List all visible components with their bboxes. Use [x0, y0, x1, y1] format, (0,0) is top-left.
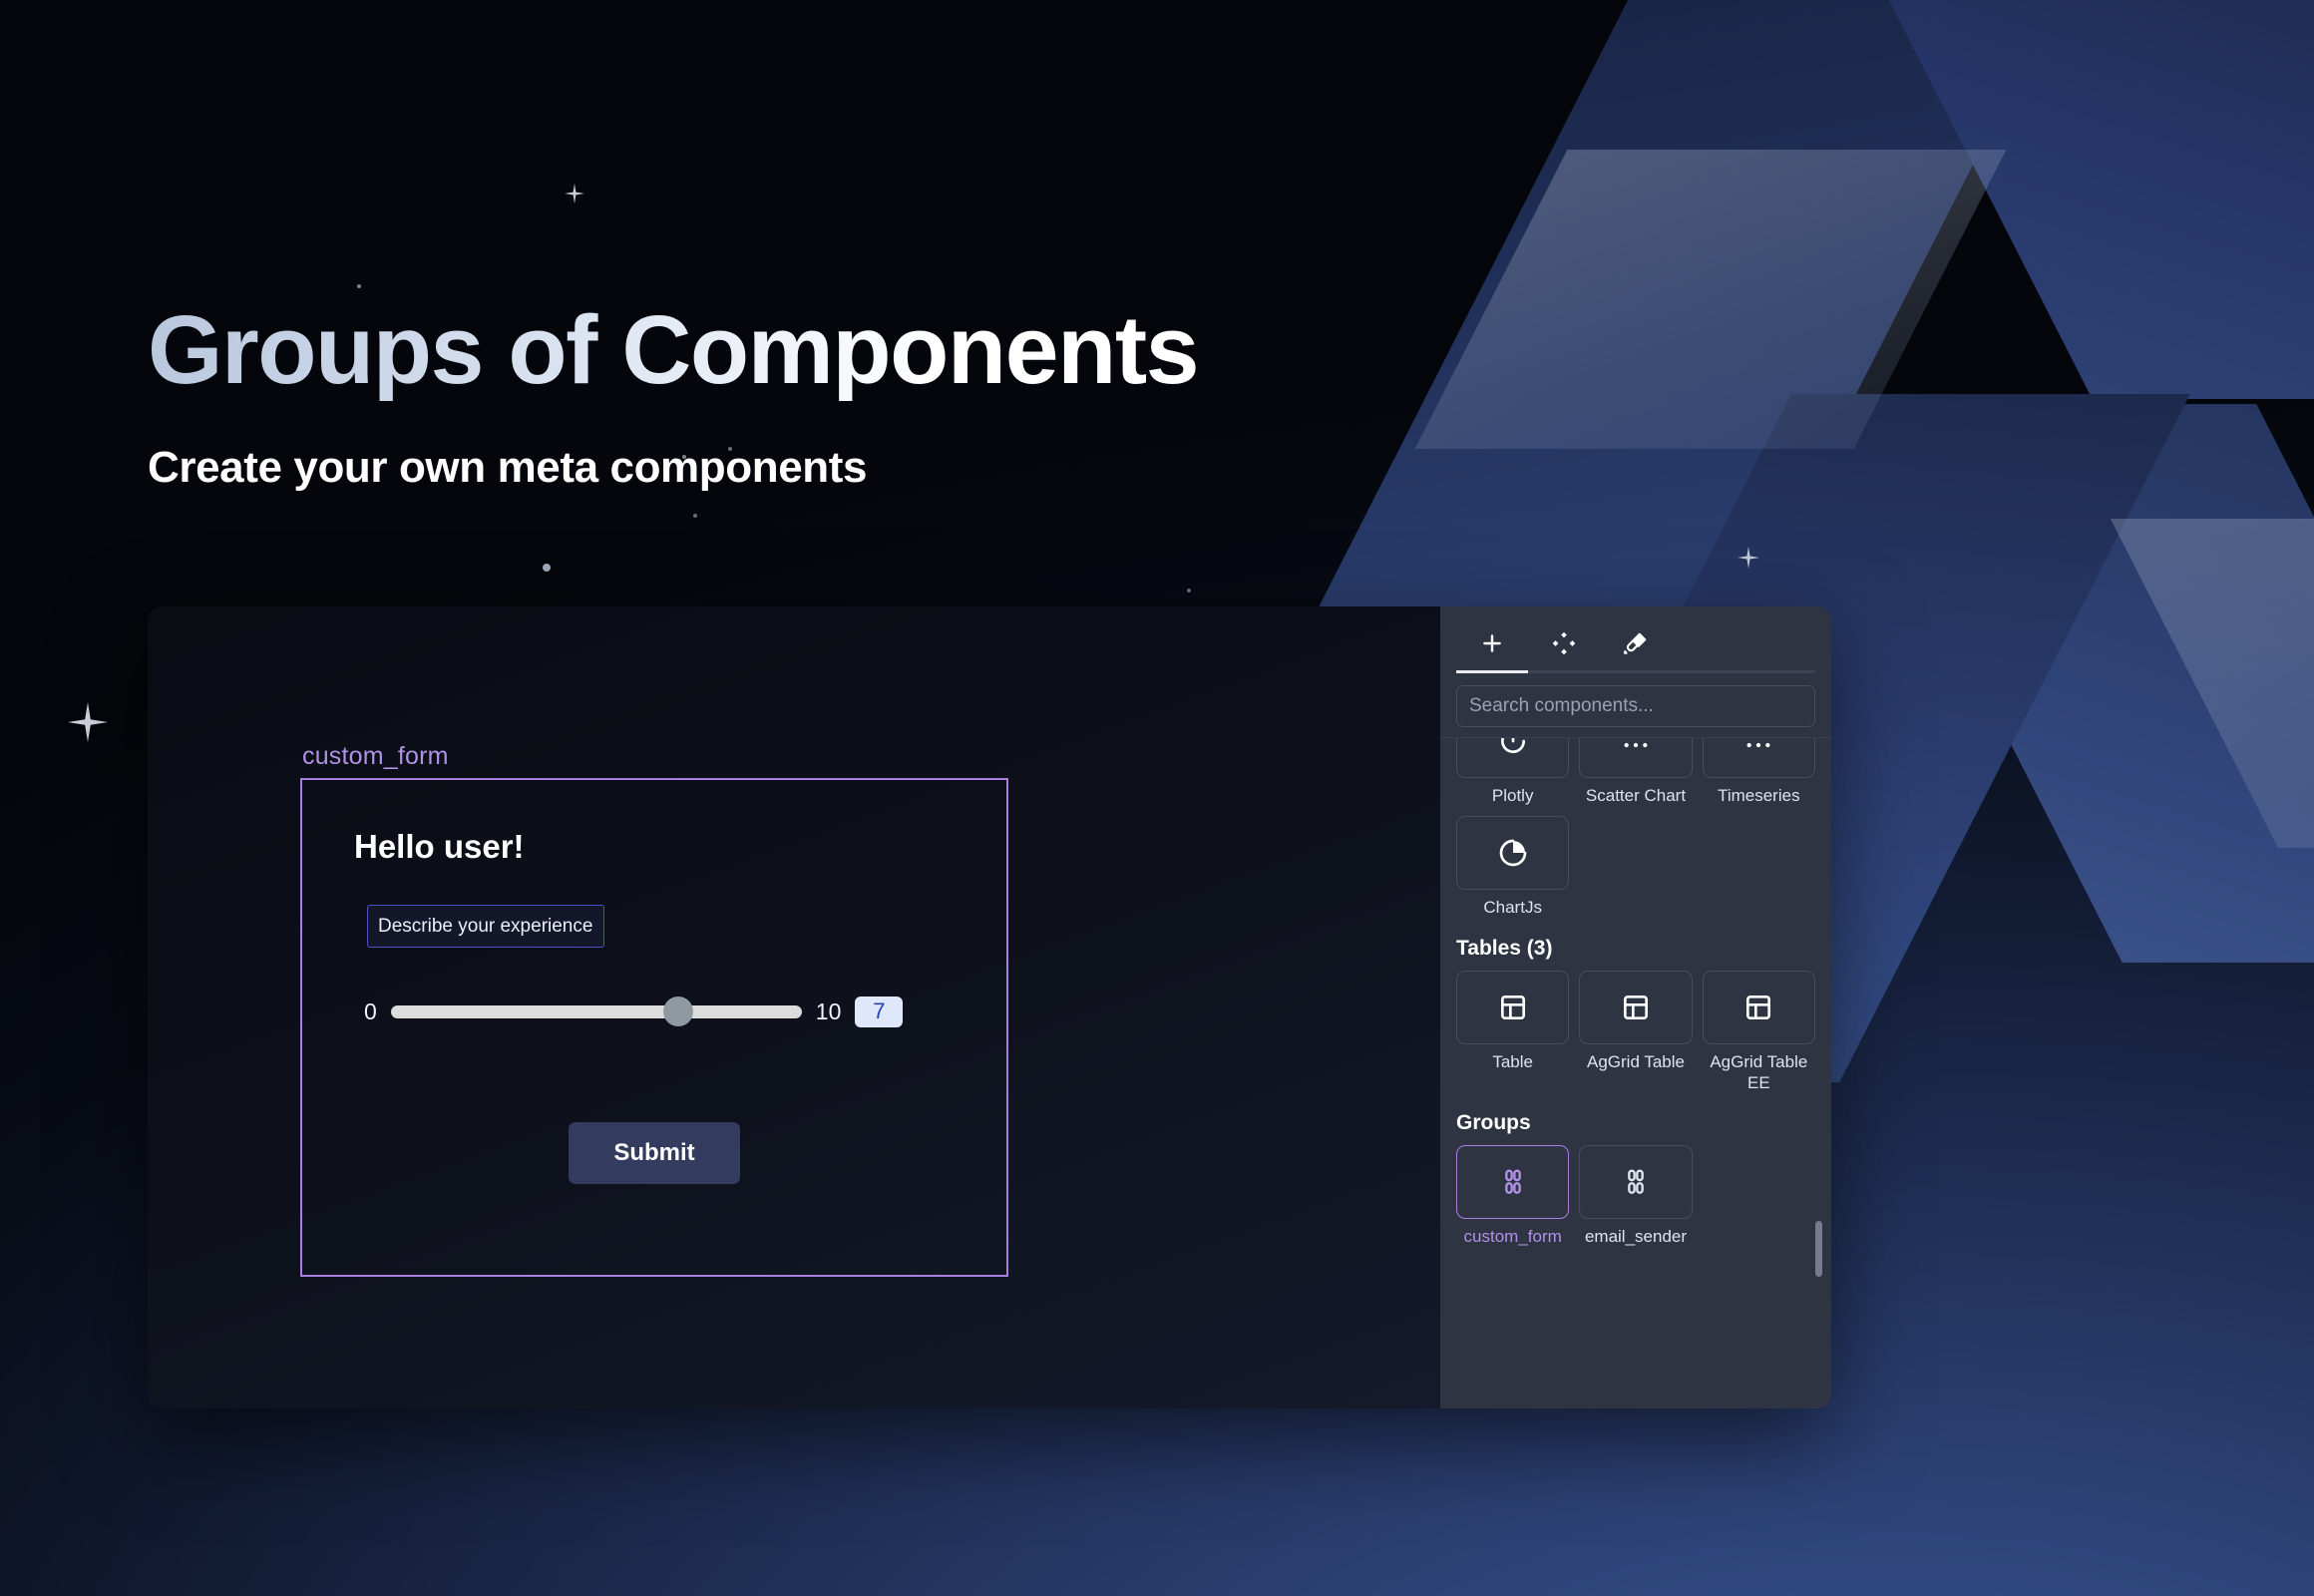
greeting-heading: Hello user!: [354, 828, 525, 866]
page-title: Groups of Components: [148, 299, 1198, 401]
star-dot: [543, 564, 551, 572]
donut-chart-icon: [1497, 737, 1529, 757]
component-item-timeseries[interactable]: Timeseries: [1703, 737, 1815, 806]
component-label: Scatter Chart: [1586, 785, 1686, 806]
tables-section-title: Tables (3): [1456, 937, 1815, 961]
component-label: Table: [1492, 1051, 1533, 1072]
page-subtitle: Create your own meta components: [148, 443, 1198, 493]
scatter-dots-icon: [1742, 737, 1774, 757]
star-dot: [357, 284, 361, 288]
diamonds-icon: [1551, 630, 1577, 656]
tables-grid: Table AgGrid Table: [1456, 971, 1815, 1094]
slider-track[interactable]: [391, 1005, 802, 1018]
group-icon: [1620, 1166, 1652, 1198]
table-icon: [1742, 992, 1774, 1023]
component-icon-box: [1456, 1145, 1569, 1219]
paintbrush-icon: [1623, 630, 1649, 656]
components-tree-tab[interactable]: [1528, 620, 1600, 666]
styling-tab[interactable]: [1600, 620, 1672, 666]
star-dot: [693, 514, 697, 518]
component-icon-box: [1579, 1145, 1692, 1219]
component-icon-box: [1579, 971, 1692, 1044]
custom-form-group[interactable]: Hello user! 0 10 7 Submit: [300, 778, 1008, 1277]
rating-slider-row[interactable]: 0 10 7: [364, 992, 982, 1031]
pie-chart-icon: [1497, 837, 1529, 869]
group-icon: [1497, 1166, 1529, 1198]
component-icon-box: [1703, 737, 1815, 778]
table-icon: [1620, 992, 1652, 1023]
component-icon-box: [1456, 737, 1569, 778]
panel-tab-bar: [1440, 606, 1831, 666]
active-tab-indicator: [1456, 670, 1815, 673]
component-item-chartjs[interactable]: ChartJs: [1456, 816, 1569, 918]
table-icon: [1497, 992, 1529, 1023]
component-item-custom-form[interactable]: custom_form: [1456, 1145, 1569, 1247]
component-label: AgGrid Table EE: [1703, 1051, 1815, 1094]
panel-scrollbar-thumb[interactable]: [1815, 1221, 1822, 1277]
star-dot: [1187, 589, 1191, 593]
scatter-dots-icon: [1620, 737, 1652, 757]
charts-grid-row2: ChartJs: [1456, 816, 1815, 918]
component-label: Plotly: [1492, 785, 1534, 806]
slider-max-label: 10: [816, 998, 842, 1025]
add-components-tab[interactable]: [1456, 620, 1528, 666]
component-icon-box: [1579, 737, 1692, 778]
search-container: [1440, 673, 1831, 737]
slider-min-label: 0: [364, 998, 377, 1025]
experience-input[interactable]: [367, 905, 604, 948]
plus-icon: [1479, 630, 1505, 656]
groups-section-title: Groups: [1456, 1111, 1815, 1135]
component-item-aggrid-table[interactable]: AgGrid Table: [1579, 971, 1692, 1094]
submit-button[interactable]: Submit: [569, 1122, 740, 1184]
component-label: ChartJs: [1483, 897, 1542, 918]
components-panel: Plotly Scatter Chart: [1440, 606, 1831, 1408]
component-icon-box: [1456, 816, 1569, 890]
group-name-label: custom_form: [302, 742, 449, 771]
component-label: AgGrid Table: [1587, 1051, 1685, 1072]
components-list[interactable]: Plotly Scatter Chart: [1440, 737, 1831, 1408]
search-input[interactable]: [1456, 685, 1815, 727]
component-icon-box: [1703, 971, 1815, 1044]
component-item-table[interactable]: Table: [1456, 971, 1569, 1094]
component-item-email-sender[interactable]: email_sender: [1579, 1145, 1692, 1247]
hero-section: Groups of Components Create your own met…: [148, 299, 1198, 493]
component-label: custom_form: [1464, 1226, 1562, 1247]
charts-grid: Plotly Scatter Chart: [1456, 737, 1815, 806]
groups-grid: custom_form email_sender: [1456, 1145, 1815, 1247]
component-item-scatter-chart[interactable]: Scatter Chart: [1579, 737, 1692, 806]
component-icon-box: [1456, 971, 1569, 1044]
component-item-plotly[interactable]: Plotly: [1456, 737, 1569, 806]
component-item-aggrid-table-ee[interactable]: AgGrid Table EE: [1703, 971, 1815, 1094]
slider-value-badge: 7: [855, 997, 903, 1027]
app-builder-card: custom_form Hello user! 0 10 7 Submit: [148, 606, 1831, 1408]
component-label: Timeseries: [1718, 785, 1800, 806]
app-canvas[interactable]: custom_form Hello user! 0 10 7 Submit: [148, 606, 1440, 1408]
slider-thumb[interactable]: [663, 997, 693, 1026]
component-label: email_sender: [1585, 1226, 1687, 1247]
